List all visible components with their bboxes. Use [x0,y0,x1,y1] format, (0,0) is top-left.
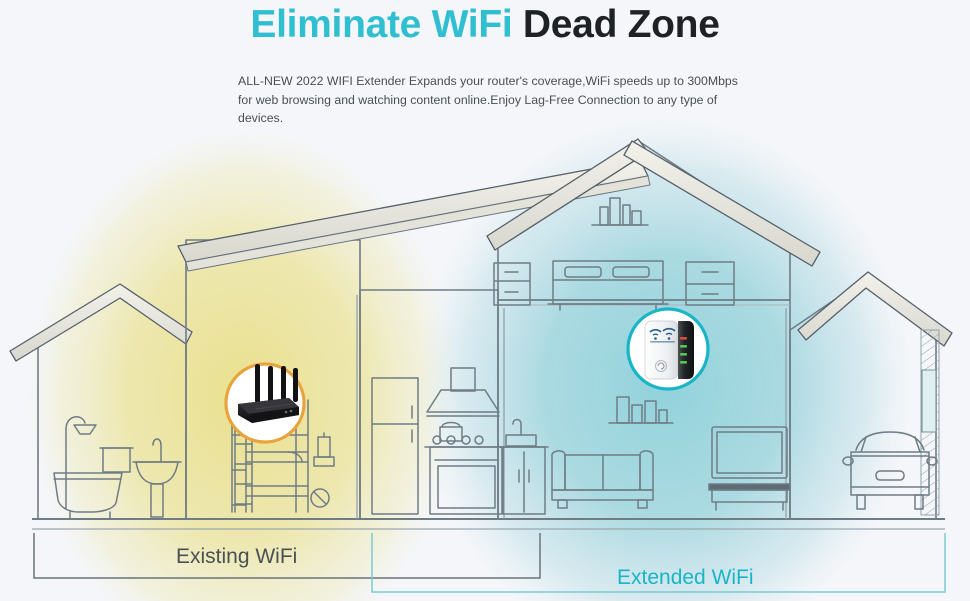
title-accent: Eliminate WiFi [250,3,512,46]
extended-wifi-label: Extended WiFi [617,566,754,590]
promo-banner: Eliminate WiFi Dead Zone ALL-NEW 2022 WI… [0,0,970,601]
page-title: Eliminate WiFi Dead Zone [0,0,970,48]
router-callout [226,364,304,442]
existing-wifi-label: Existing WiFi [176,545,297,569]
extender-callout [628,309,708,389]
garage-window [922,370,936,432]
header: Eliminate WiFi Dead Zone [0,0,970,48]
title-dark: Dead Zone [523,3,720,46]
page-description: ALL-NEW 2022 WIFI Extender Expands your … [238,72,748,128]
extender-device [645,321,694,379]
